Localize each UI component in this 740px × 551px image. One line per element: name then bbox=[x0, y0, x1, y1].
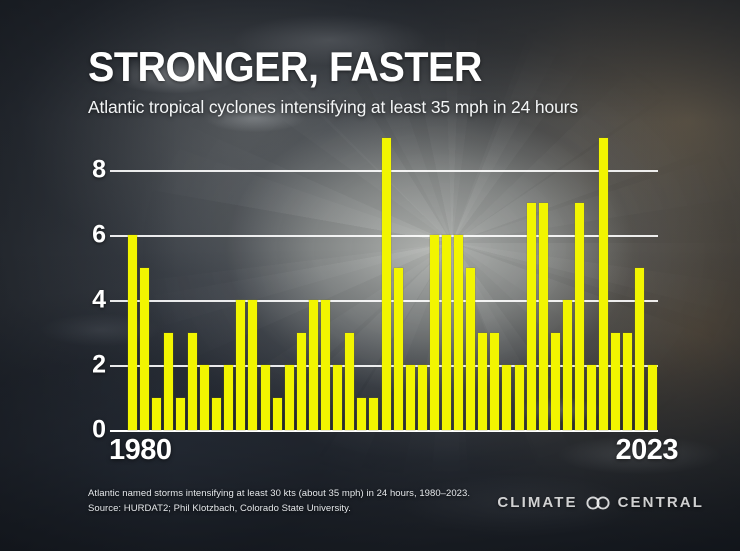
bar-slot bbox=[489, 138, 501, 430]
bar-1998[interactable] bbox=[345, 333, 354, 430]
bar-slot bbox=[295, 138, 307, 430]
bar-2019[interactable] bbox=[599, 138, 608, 430]
y-axis-tick-2: 2 bbox=[92, 351, 106, 380]
bar-slot bbox=[634, 138, 646, 430]
climate-central-logo: CLIMATE CENTRAL bbox=[497, 494, 704, 511]
bar-2017[interactable] bbox=[575, 203, 584, 430]
footnote-line-2: Source: HURDAT2; Phil Klotzbach, Colorad… bbox=[88, 502, 470, 517]
bar-slot bbox=[259, 138, 271, 430]
bar-slot bbox=[307, 138, 319, 430]
bar-slot bbox=[332, 138, 344, 430]
bar-2010[interactable] bbox=[490, 333, 499, 430]
page-subtitle: Atlantic tropical cyclones intensifying … bbox=[88, 97, 578, 117]
bar-2008[interactable] bbox=[466, 268, 475, 430]
bar-slot bbox=[235, 138, 247, 430]
bar-2016[interactable] bbox=[563, 300, 572, 430]
bar-slot bbox=[416, 138, 428, 430]
bar-1980[interactable] bbox=[128, 235, 137, 430]
y-axis-tick-8: 8 bbox=[92, 156, 106, 185]
bar-1991[interactable] bbox=[261, 365, 270, 430]
bar-slot bbox=[404, 138, 416, 430]
bar-slot bbox=[610, 138, 622, 430]
bar-1989[interactable] bbox=[236, 300, 245, 430]
brand-word-climate: CLIMATE bbox=[497, 494, 577, 511]
bar-1981[interactable] bbox=[140, 268, 149, 430]
bar-2011[interactable] bbox=[502, 365, 511, 430]
bar-slot bbox=[573, 138, 585, 430]
infographic-root: STRONGER, FASTER Atlantic tropical cyclo… bbox=[0, 0, 740, 551]
bar-2014[interactable] bbox=[539, 203, 548, 430]
bar-slot bbox=[513, 138, 525, 430]
bar-slot bbox=[465, 138, 477, 430]
bar-2015[interactable] bbox=[551, 333, 560, 430]
bar-2020[interactable] bbox=[611, 333, 620, 430]
bar-2001[interactable] bbox=[382, 138, 391, 430]
footnote: Atlantic named storms intensifying at le… bbox=[88, 487, 470, 516]
bar-2007[interactable] bbox=[454, 235, 463, 430]
bar-slot bbox=[283, 138, 295, 430]
bar-1988[interactable] bbox=[224, 365, 233, 430]
bar-slot bbox=[320, 138, 332, 430]
x-axis-end-label: 2023 bbox=[615, 434, 678, 467]
bar-slot bbox=[549, 138, 561, 430]
bar-slot bbox=[150, 138, 162, 430]
bar-slot bbox=[537, 138, 549, 430]
y-axis-tick-0: 0 bbox=[92, 416, 106, 445]
bar-1994[interactable] bbox=[297, 333, 306, 430]
bar-1982[interactable] bbox=[152, 398, 161, 430]
infinity-loop-icon bbox=[585, 496, 611, 510]
bar-1983[interactable] bbox=[164, 333, 173, 430]
bar-1999[interactable] bbox=[357, 398, 366, 430]
bar-2006[interactable] bbox=[442, 235, 451, 430]
bar-slot bbox=[199, 138, 211, 430]
y-axis-tick-6: 6 bbox=[92, 221, 106, 250]
bar-2013[interactable] bbox=[527, 203, 536, 430]
bar-slot bbox=[162, 138, 174, 430]
bar-slot bbox=[598, 138, 610, 430]
bar-2002[interactable] bbox=[394, 268, 403, 430]
bar-slot bbox=[477, 138, 489, 430]
bar-1997[interactable] bbox=[333, 365, 342, 430]
y-axis-tick-4: 4 bbox=[92, 286, 106, 315]
bar-1993[interactable] bbox=[285, 365, 294, 430]
bar-1987[interactable] bbox=[212, 398, 221, 430]
header: STRONGER, FASTER Atlantic tropical cyclo… bbox=[88, 46, 578, 117]
footnote-line-1: Atlantic named storms intensifying at le… bbox=[88, 487, 470, 502]
bar-2005[interactable] bbox=[430, 235, 439, 430]
bar-1992[interactable] bbox=[273, 398, 282, 430]
bar-slot bbox=[646, 138, 658, 430]
bar-2009[interactable] bbox=[478, 333, 487, 430]
bar-slot bbox=[211, 138, 223, 430]
bar-slot bbox=[368, 138, 380, 430]
bar-1996[interactable] bbox=[321, 300, 330, 430]
bar-slot bbox=[440, 138, 452, 430]
bar-2018[interactable] bbox=[587, 365, 596, 430]
bar-slot bbox=[561, 138, 573, 430]
bar-slot bbox=[453, 138, 465, 430]
bar-slot bbox=[356, 138, 368, 430]
bar-slot bbox=[174, 138, 186, 430]
bar-slot bbox=[525, 138, 537, 430]
bar-slot bbox=[223, 138, 235, 430]
bar-2023[interactable] bbox=[648, 365, 657, 430]
bar-1984[interactable] bbox=[176, 398, 185, 430]
bar-slot bbox=[501, 138, 513, 430]
bar-slot bbox=[428, 138, 440, 430]
bar-slot bbox=[247, 138, 259, 430]
bar-slot bbox=[380, 138, 392, 430]
bar-2022[interactable] bbox=[635, 268, 644, 430]
bar-chart: 02468 1980 2023 bbox=[126, 138, 658, 430]
bar-slot bbox=[586, 138, 598, 430]
bar-slot bbox=[186, 138, 198, 430]
bar-slot bbox=[344, 138, 356, 430]
bar-slot bbox=[126, 138, 138, 430]
bar-2004[interactable] bbox=[418, 365, 427, 430]
page-title: STRONGER, FASTER bbox=[88, 46, 549, 88]
bar-1995[interactable] bbox=[309, 300, 318, 430]
bar-slot bbox=[392, 138, 404, 430]
bar-slot bbox=[622, 138, 634, 430]
gridline-0 bbox=[110, 430, 658, 432]
bar-1990[interactable] bbox=[248, 300, 257, 430]
bar-2003[interactable] bbox=[406, 365, 415, 430]
x-axis-start-label: 1980 bbox=[109, 434, 172, 467]
bar-2000[interactable] bbox=[369, 398, 378, 430]
bars-group bbox=[126, 138, 658, 430]
bar-2021[interactable] bbox=[623, 333, 632, 430]
bar-2012[interactable] bbox=[515, 365, 524, 430]
brand-word-central: CENTRAL bbox=[618, 494, 704, 511]
bar-slot bbox=[138, 138, 150, 430]
bar-slot bbox=[271, 138, 283, 430]
bar-1985[interactable] bbox=[188, 333, 197, 430]
bar-1986[interactable] bbox=[200, 365, 209, 430]
